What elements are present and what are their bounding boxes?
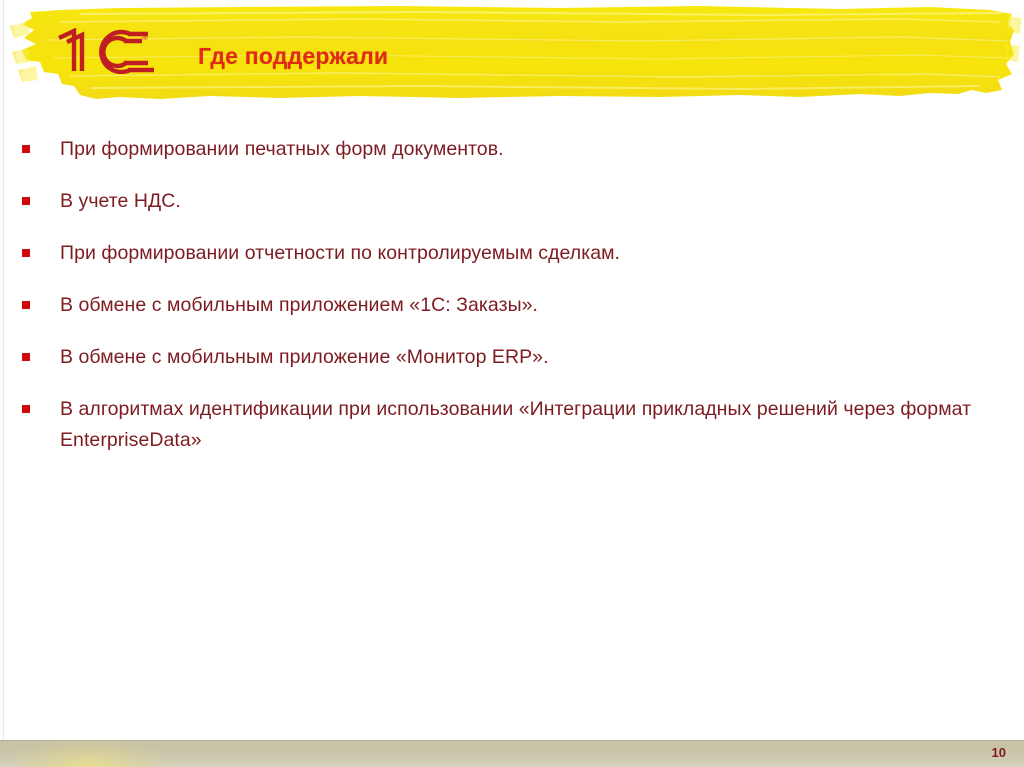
list-item-label: В обмене с мобильным приложением «1С: За… <box>60 290 984 321</box>
list-item-label: При формировании отчетности по контролир… <box>60 238 984 269</box>
square-bullet-icon <box>22 301 30 309</box>
bullet-list: При формировании печатных форм документо… <box>0 134 1024 456</box>
registered-mark-icon: ® <box>142 33 148 42</box>
square-bullet-icon <box>22 353 30 361</box>
list-item: В обмене с мобильным приложением «1С: За… <box>0 290 1024 342</box>
slide-canvas: ® Где поддержали При формировании печатн… <box>0 0 1024 767</box>
list-item-label: В алгоритмах идентификации при использов… <box>60 394 984 456</box>
square-bullet-icon <box>22 249 30 257</box>
list-item: В учете НДС. <box>0 186 1024 238</box>
list-item-label: В учете НДС. <box>60 186 984 217</box>
square-bullet-icon <box>22 145 30 153</box>
1c-logo: ® <box>56 28 156 74</box>
slide-header: ® Где поддержали <box>0 0 1024 112</box>
list-item: При формировании печатных форм документо… <box>0 134 1024 186</box>
list-item: При формировании отчетности по контролир… <box>0 238 1024 290</box>
square-bullet-icon <box>22 197 30 205</box>
list-item-label: При формировании печатных форм документо… <box>60 134 984 165</box>
footer-highlight-glow <box>14 740 164 767</box>
square-bullet-icon <box>22 405 30 413</box>
page-title: Где поддержали <box>198 43 388 70</box>
list-item: В обмене с мобильным приложение «Монитор… <box>0 342 1024 394</box>
slide-footer: 10 <box>0 740 1024 767</box>
page-number: 10 <box>992 745 1006 761</box>
list-item-label: В обмене с мобильным приложение «Монитор… <box>60 342 984 373</box>
list-item: В алгоритмах идентификации при использов… <box>0 394 1024 456</box>
